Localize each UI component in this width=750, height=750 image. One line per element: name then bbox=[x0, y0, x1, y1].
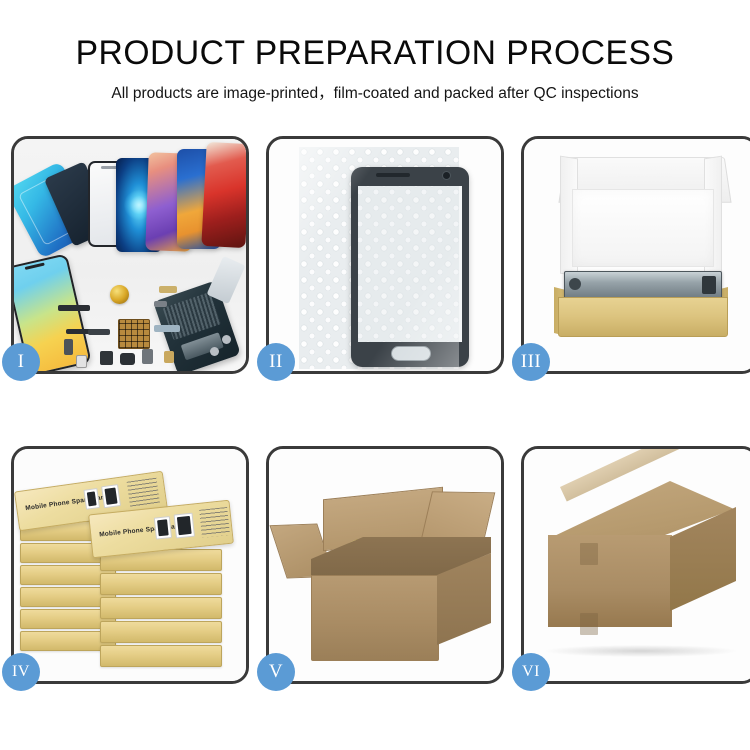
step-5-image bbox=[269, 449, 501, 681]
process-step-6[interactable]: VI bbox=[521, 446, 750, 684]
box-window bbox=[154, 516, 172, 540]
stacked-box bbox=[100, 645, 222, 667]
carton-drop-shadow bbox=[546, 645, 736, 657]
step-6-number-badge: VI bbox=[512, 653, 550, 691]
page-title: PRODUCT PREPARATION PROCESS bbox=[4, 34, 747, 72]
step-2-image bbox=[269, 139, 501, 371]
wrapped-screen bbox=[351, 167, 469, 367]
foam-insert bbox=[572, 189, 714, 267]
front-camera-icon bbox=[443, 172, 450, 179]
box-window bbox=[83, 488, 100, 510]
step-4-image: Mobile Phone Spare Parts Mobile Phone Sp… bbox=[14, 449, 246, 681]
vibrator-part bbox=[120, 353, 135, 365]
stacked-box bbox=[100, 573, 222, 595]
step-5-number-badge: V bbox=[257, 653, 295, 691]
connector-part bbox=[64, 339, 73, 355]
screw-set-part bbox=[164, 351, 174, 363]
speaker-coil-part bbox=[110, 285, 129, 304]
bubble-wrap-sheet bbox=[299, 147, 459, 369]
step-1-image bbox=[14, 139, 246, 371]
step-3-image bbox=[524, 139, 750, 371]
product-preparation-infographic: PRODUCT PREPARATION PROCESS All products… bbox=[0, 0, 750, 750]
gold-bracket-part bbox=[159, 286, 177, 293]
carton-front-face bbox=[311, 575, 439, 661]
ic-grid-chip bbox=[118, 319, 150, 349]
stacked-box bbox=[100, 621, 222, 643]
process-step-4[interactable]: Mobile Phone Spare Parts Mobile Phone Sp… bbox=[11, 446, 249, 684]
header: PRODUCT PREPARATION PROCESS All products… bbox=[0, 0, 750, 118]
process-step-2[interactable]: II bbox=[266, 136, 504, 374]
box-window bbox=[101, 484, 121, 508]
tool-part bbox=[206, 256, 245, 304]
stacked-box bbox=[100, 597, 222, 619]
process-step-grid: I II bbox=[11, 136, 739, 696]
battery-connector-part bbox=[142, 349, 153, 364]
step-3-number-badge: III bbox=[512, 343, 550, 381]
camera-module-part bbox=[100, 351, 113, 365]
red-screen-phone bbox=[201, 142, 246, 248]
step-1-number-badge: I bbox=[2, 343, 40, 381]
packed-screen bbox=[564, 271, 722, 299]
box-window bbox=[174, 513, 195, 539]
step-4-number-badge: IV bbox=[2, 653, 40, 691]
carton-flap-tab bbox=[580, 543, 598, 565]
process-step-1[interactable]: I bbox=[11, 136, 249, 374]
sim-tray-part bbox=[76, 355, 87, 368]
shield-plate-part bbox=[154, 325, 180, 332]
antenna-strip-part bbox=[88, 329, 110, 335]
box-checklist-lines bbox=[199, 507, 230, 538]
sealed-carton-front bbox=[548, 535, 672, 627]
carton-flap-tab bbox=[580, 613, 598, 635]
step-2-number-badge: II bbox=[257, 343, 295, 381]
small-metal-part bbox=[154, 301, 167, 307]
process-step-3[interactable]: III bbox=[521, 136, 750, 374]
screw-part bbox=[210, 347, 219, 356]
screw-part bbox=[222, 335, 231, 344]
process-step-5[interactable]: V bbox=[266, 446, 504, 684]
earpiece-mesh-part bbox=[58, 305, 90, 311]
box-front-panel bbox=[558, 297, 728, 337]
page-subtitle: All products are image-printed，film-coat… bbox=[0, 84, 750, 104]
box-checklist-lines bbox=[127, 478, 160, 508]
step-6-image bbox=[524, 449, 750, 681]
